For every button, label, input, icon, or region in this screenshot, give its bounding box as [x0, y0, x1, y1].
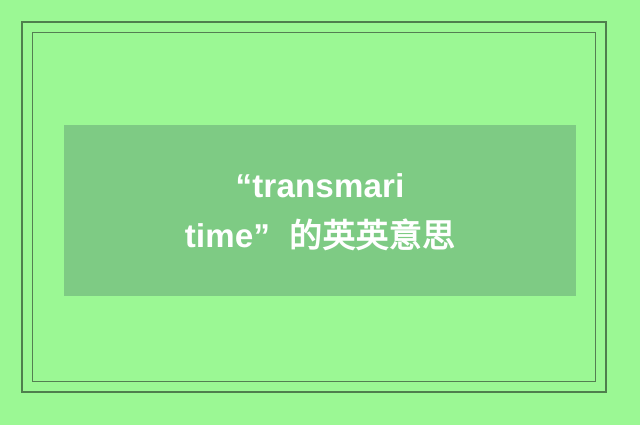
- title-line-2-word: time”: [185, 217, 270, 254]
- title-panel: “transmari time” 的英英意思: [64, 125, 576, 296]
- title-line-1: “transmari: [236, 161, 405, 211]
- page-canvas: “transmari time” 的英英意思: [0, 0, 640, 425]
- title-line-2: time” 的英英意思: [185, 211, 456, 261]
- title-line-2-cjk: 的英英意思: [289, 217, 455, 254]
- title-line-2-spacer: [270, 217, 289, 254]
